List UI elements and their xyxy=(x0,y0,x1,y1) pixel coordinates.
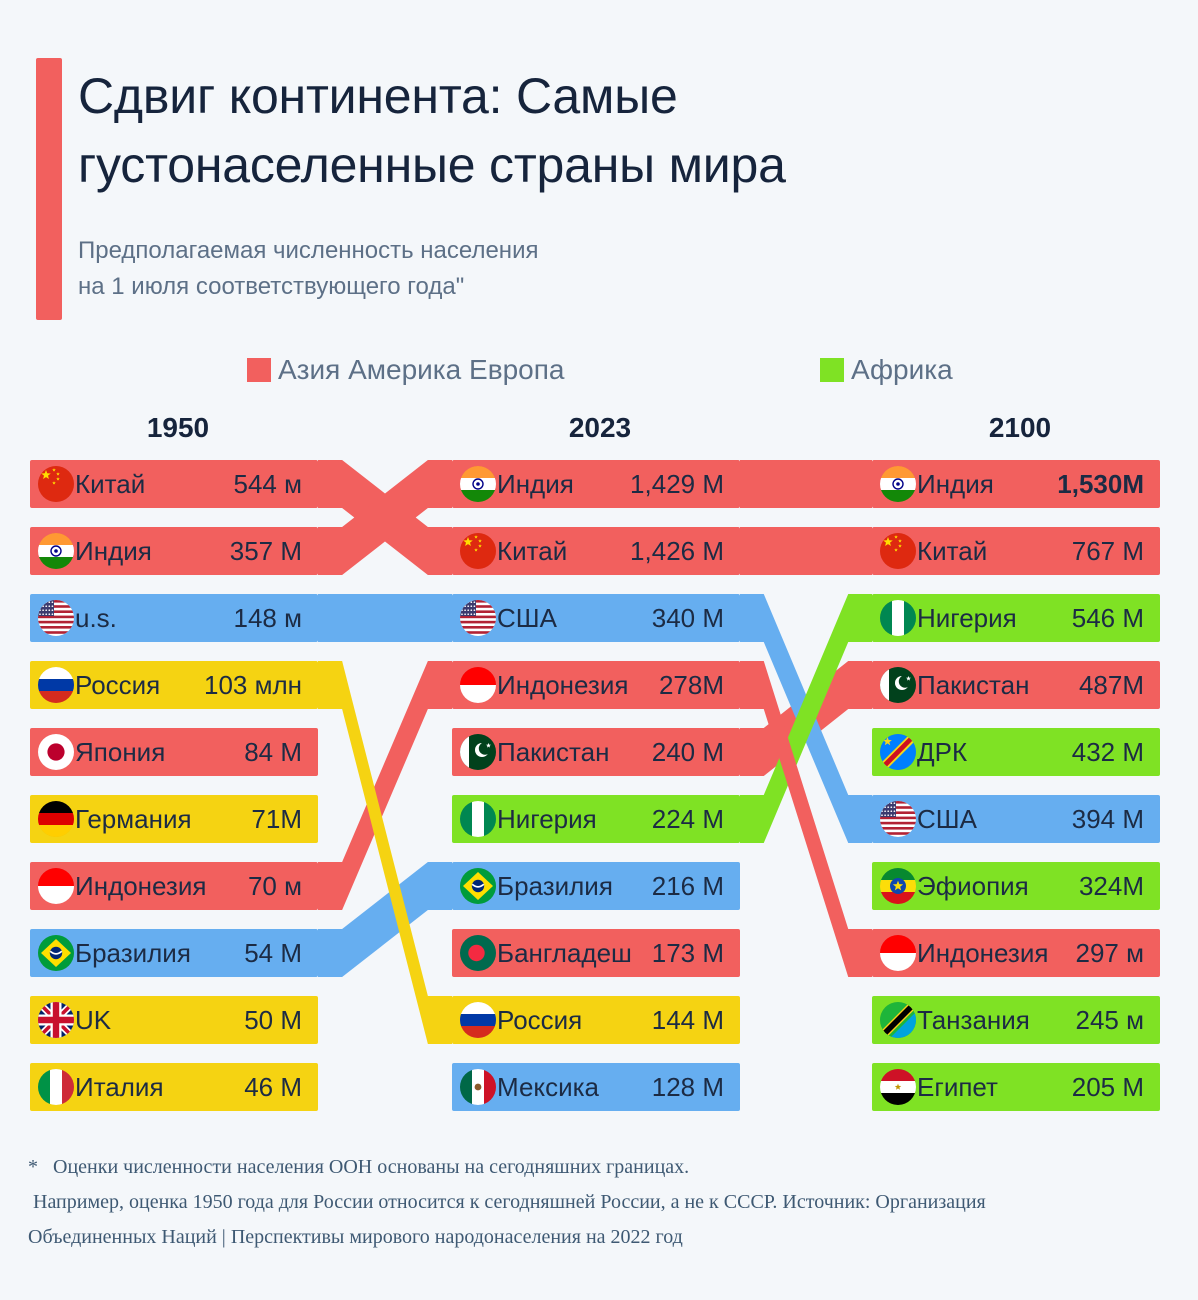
population-value: 546 M xyxy=(1072,603,1144,634)
population-value: 324M xyxy=(1079,871,1144,902)
population-value: 1,530M xyxy=(1057,469,1144,500)
population-value: 205 M xyxy=(1072,1072,1144,1103)
flag-in-icon xyxy=(880,466,916,502)
country-name: ДРК xyxy=(917,737,967,768)
country-name: Танзания xyxy=(917,1005,1030,1036)
population-value: 245 м xyxy=(1076,1005,1144,1036)
table-row[interactable]: Эфиопия324M xyxy=(872,862,1160,910)
column-2100: Индия1,530MКитай767 MНигерия546 MПакиста… xyxy=(0,0,1198,1135)
country-name: Пакистан xyxy=(917,670,1029,701)
flag-et-icon xyxy=(880,868,916,904)
country-name: Китай xyxy=(917,536,987,567)
population-value: 767 M xyxy=(1072,536,1144,567)
footnote-line2: Например, оценка 1950 года для России от… xyxy=(33,1191,986,1213)
flag-cd-icon xyxy=(880,734,916,770)
country-name: Египет xyxy=(917,1072,998,1103)
footnote: * Оценки численности населения ООН основ… xyxy=(28,1150,1178,1255)
flag-cn-icon xyxy=(880,533,916,569)
country-name: Нигерия xyxy=(917,603,1017,634)
table-row[interactable]: Индия1,530M xyxy=(872,460,1160,508)
table-row[interactable]: Индонезия297 м xyxy=(872,929,1160,977)
footnote-line3: Объединенных Наций | Перспективы мировог… xyxy=(28,1226,683,1248)
table-row[interactable]: Китай767 M xyxy=(872,527,1160,575)
footnote-line1: Оценки численности населения ООН основан… xyxy=(53,1156,689,1178)
population-value: 487M xyxy=(1079,670,1144,701)
country-name: Индия xyxy=(917,469,994,500)
table-row[interactable]: Танзания245 м xyxy=(872,996,1160,1044)
population-value: 297 м xyxy=(1076,938,1144,969)
flag-pk-icon xyxy=(880,667,916,703)
table-row[interactable]: США394 M xyxy=(872,795,1160,843)
table-row[interactable]: Нигерия546 M xyxy=(872,594,1160,642)
flag-ng-icon xyxy=(880,600,916,636)
flag-id-icon xyxy=(880,935,916,971)
table-row[interactable]: Пакистан487M xyxy=(872,661,1160,709)
flag-eg-icon xyxy=(880,1069,916,1105)
table-row[interactable]: Египет205 M xyxy=(872,1063,1160,1111)
flag-tz-icon xyxy=(880,1002,916,1038)
country-name: Эфиопия xyxy=(917,871,1029,902)
population-value: 394 M xyxy=(1072,804,1144,835)
population-value: 432 M xyxy=(1072,737,1144,768)
country-name: США xyxy=(917,804,977,835)
country-name: Индонезия xyxy=(917,938,1048,969)
table-row[interactable]: ДРК432 M xyxy=(872,728,1160,776)
population-ranking-chart: Китай544 мИндия357 Mu.s.148 мРоссия103 м… xyxy=(0,0,1198,1135)
footnote-star: * xyxy=(28,1156,38,1178)
flag-us-icon xyxy=(880,801,916,837)
